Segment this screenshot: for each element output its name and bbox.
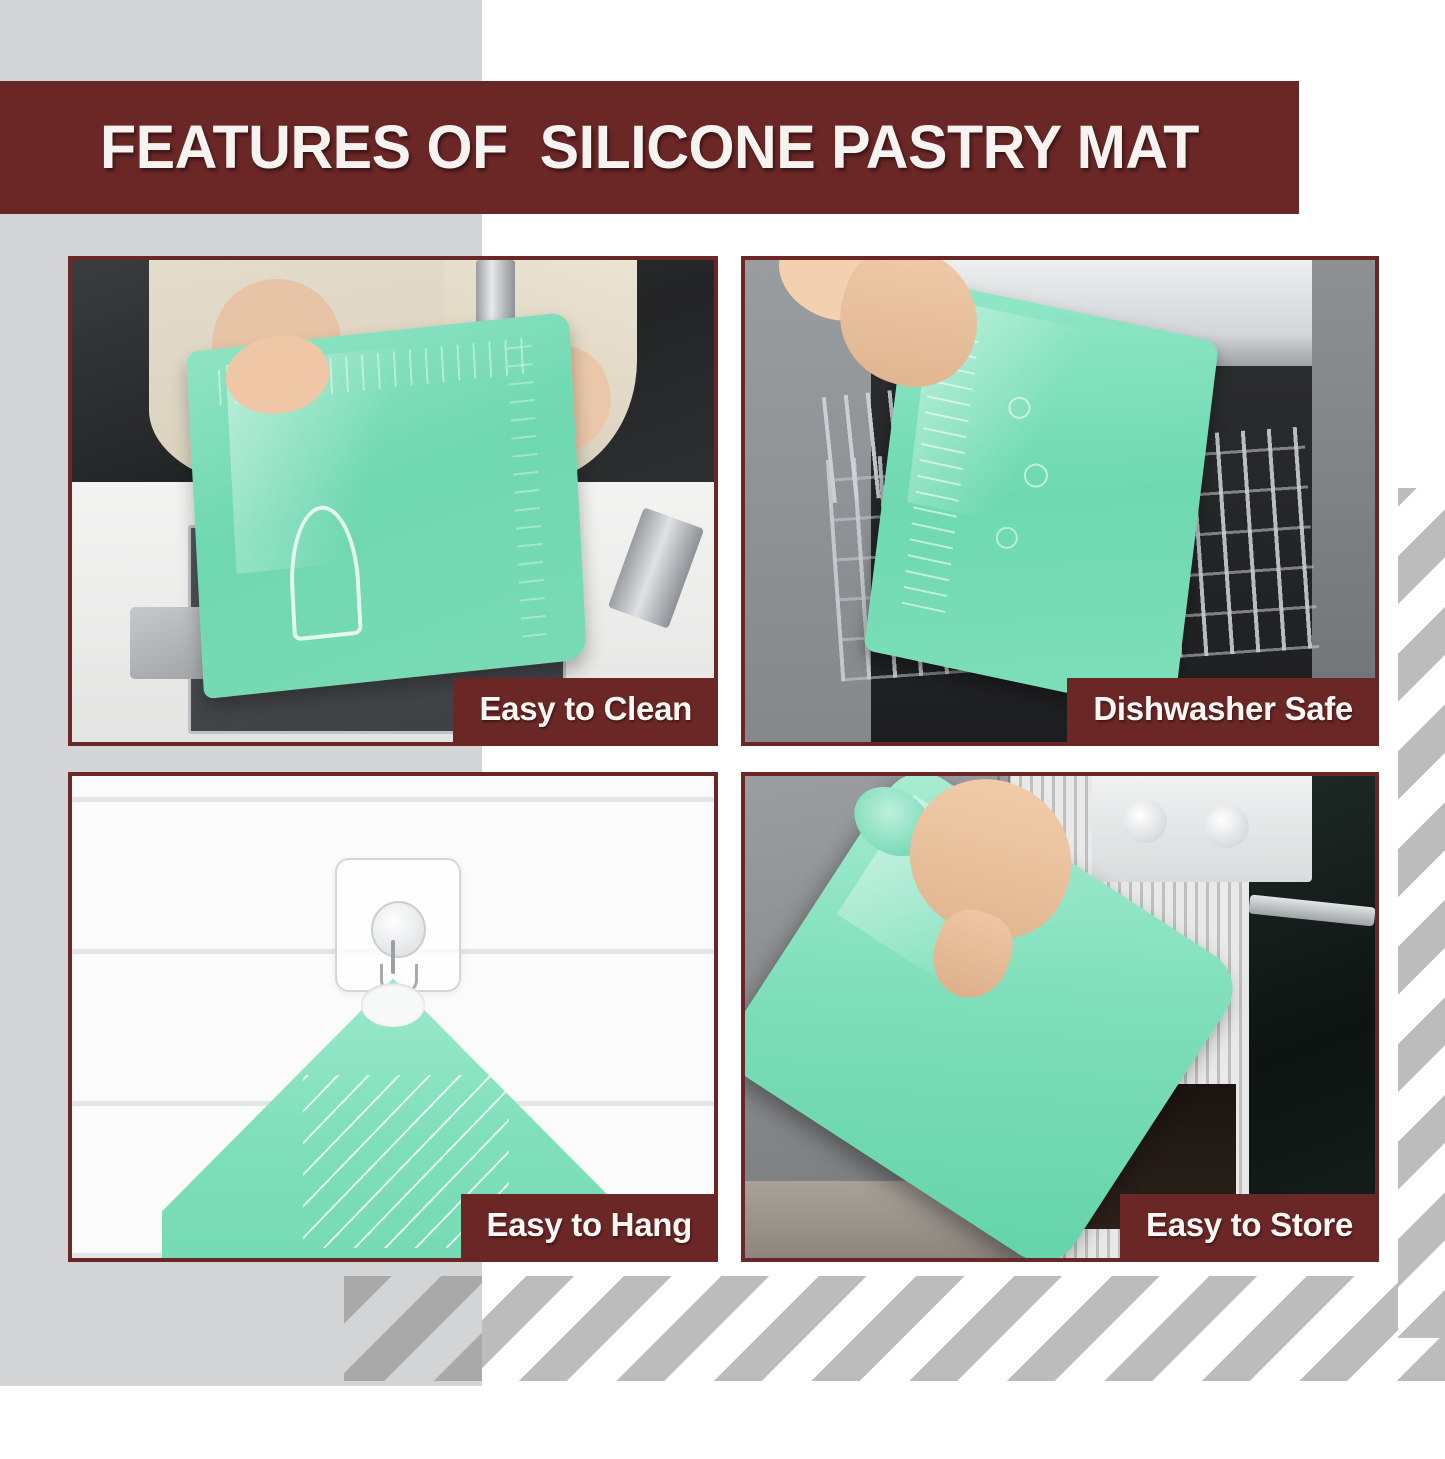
header-banner: FEATURES OF SILICONE PASTRY MAT xyxy=(0,81,1299,214)
panel-label-easy-to-clean: Easy to Clean xyxy=(453,678,714,742)
feature-panel-easy-to-clean[interactable]: Easy to Clean xyxy=(68,256,718,746)
feature-panel-dishwasher-safe[interactable]: Dishwasher Safe xyxy=(741,256,1379,746)
right-stripe-decoration xyxy=(1398,488,1445,1338)
photo-easy-to-clean xyxy=(72,260,714,742)
oven-knob-icon xyxy=(1205,805,1249,848)
bottom-stripe-decoration xyxy=(344,1276,1445,1381)
photo-dishwasher-safe xyxy=(745,260,1375,742)
bottom-stripe-decoration-over-gray xyxy=(344,1276,482,1381)
feature-panel-easy-to-hang[interactable]: Easy to Hang xyxy=(68,772,718,1262)
mat-icon-graphics xyxy=(945,367,1138,636)
page-title: FEATURES OF SILICONE PASTRY MAT xyxy=(100,117,1199,178)
photo-easy-to-hang xyxy=(72,776,714,1258)
photo-easy-to-store xyxy=(745,776,1375,1258)
infographic-canvas: FEATURES OF SILICONE PASTRY MAT Easy to … xyxy=(0,0,1445,1459)
panel-label-easy-to-hang: Easy to Hang xyxy=(461,1194,714,1258)
feature-panel-easy-to-store[interactable]: Easy to Store xyxy=(741,772,1379,1262)
panel-label-dishwasher-safe: Dishwasher Safe xyxy=(1067,678,1375,742)
mat-grommet-hole xyxy=(361,983,425,1026)
mat-spoon-graphic xyxy=(287,502,363,642)
hook-knob-icon xyxy=(371,901,426,958)
panel-label-easy-to-store: Easy to Store xyxy=(1120,1194,1375,1258)
